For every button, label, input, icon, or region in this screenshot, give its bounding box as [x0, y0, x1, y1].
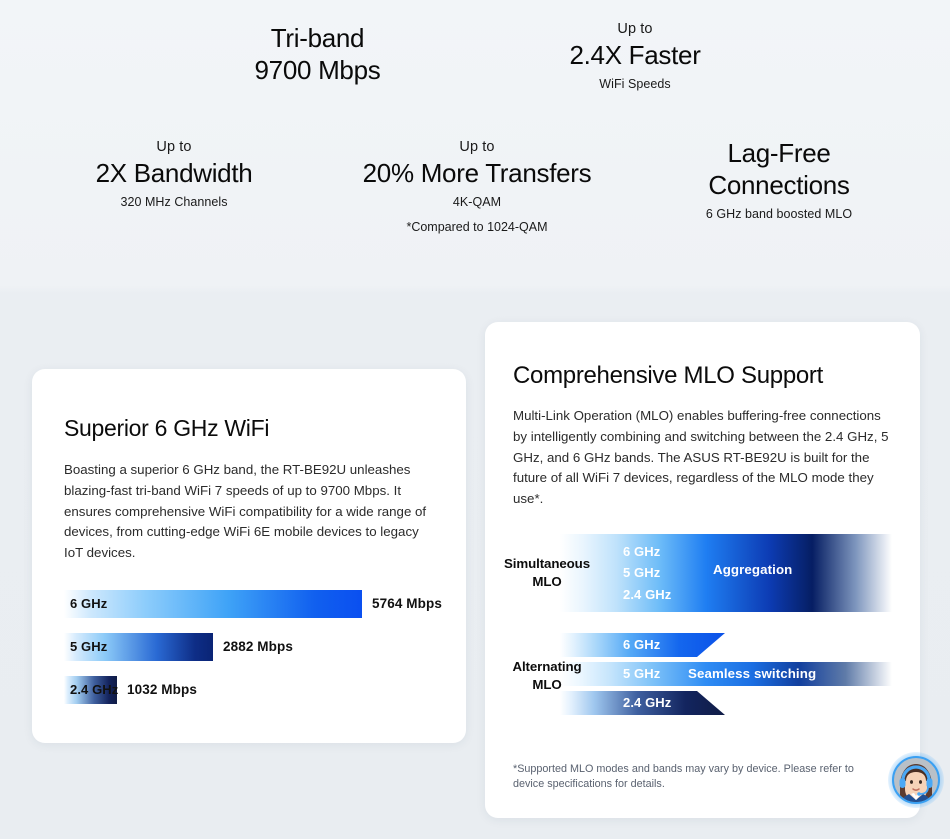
mlo-simultaneous-label-line1: Simultaneous: [497, 555, 597, 573]
mlo-alternating-mode: Seamless switching: [688, 662, 816, 686]
spec-triband: Tri-band 9700 Mbps: [190, 22, 445, 86]
mlo-alt-row-24ghz: 2.4 GHz: [560, 691, 725, 715]
bar-value-5ghz: 2882 Mbps: [223, 633, 293, 661]
band-speed-bar-chart: 6 GHz 5764 Mbps 5 GHz 2882 Mbps 2.4 GHz …: [64, 590, 434, 704]
left-card-body: Boasting a superior 6 GHz band, the RT-B…: [64, 460, 434, 564]
right-card-body: Multi-Link Operation (MLO) enables buffe…: [513, 406, 892, 510]
spec-transfers: Up to 20% More Transfers 4K-QAM *Compare…: [336, 138, 618, 236]
right-card-title: Comprehensive MLO Support: [513, 361, 892, 391]
left-card-title: Superior 6 GHz WiFi: [64, 413, 434, 443]
mlo-alternating-label-line1: Alternating: [497, 658, 597, 676]
mlo-footnote: *Supported MLO modes and bands may vary …: [513, 762, 878, 791]
spec-triband-headline-2: 9700 Mbps: [190, 54, 445, 86]
mlo-alternating-label: Alternating MLO: [497, 658, 597, 694]
mlo-sim-band-5ghz: 5 GHz: [623, 562, 671, 583]
bar-row-6ghz: 6 GHz 5764 Mbps: [64, 590, 434, 618]
support-chat-button[interactable]: [888, 752, 944, 808]
bar-fill-6ghz: [64, 590, 362, 618]
spec-transfers-prefix: Up to: [336, 138, 618, 157]
mlo-group-simultaneous: Simultaneous MLO 6 GHz 5 GHz 2.4 GHz Agg…: [485, 534, 892, 612]
spec-bandwidth-headline: 2X Bandwidth: [60, 157, 288, 189]
spec-faster-prefix: Up to: [545, 20, 725, 39]
mlo-diagram: Simultaneous MLO 6 GHz 5 GHz 2.4 GHz Agg…: [485, 534, 864, 729]
bar-value-6ghz: 5764 Mbps: [372, 590, 442, 618]
mlo-simultaneous-bands: 6 GHz 5 GHz 2.4 GHz: [623, 541, 671, 605]
spec-faster-sub: WiFi Speeds: [545, 75, 725, 93]
spec-faster: Up to 2.4X Faster WiFi Speeds: [545, 20, 725, 93]
spec-triband-headline-1: Tri-band: [190, 22, 445, 54]
spec-lagfree-sub: 6 GHz band boosted MLO: [678, 205, 880, 223]
hero-spec-grid: Tri-band 9700 Mbps Up to 2.4X Faster WiF…: [0, 0, 950, 292]
spec-bandwidth: Up to 2X Bandwidth 320 MHz Channels: [60, 138, 288, 211]
mlo-sim-band-24ghz: 2.4 GHz: [623, 584, 671, 605]
mlo-alt-band-6ghz: 6 GHz: [623, 633, 660, 657]
mlo-simultaneous-label: Simultaneous MLO: [497, 555, 597, 591]
mlo-simultaneous-mode: Aggregation: [713, 562, 792, 577]
spec-faster-headline: 2.4X Faster: [545, 39, 725, 71]
bar-value-24ghz: 1032 Mbps: [127, 676, 197, 704]
bar-label-5ghz: 5 GHz: [70, 633, 107, 661]
mlo-alt-band-24ghz: 2.4 GHz: [623, 691, 671, 715]
mlo-simultaneous-label-line2: MLO: [497, 573, 597, 591]
bar-row-24ghz: 2.4 GHz 1032 Mbps: [64, 676, 434, 704]
mlo-alternating-label-line2: MLO: [497, 676, 597, 694]
mlo-alt-band-5ghz: 5 GHz: [623, 662, 660, 686]
spec-lagfree-headline-1: Lag-Free: [678, 137, 880, 169]
spec-transfers-sub: 4K-QAM: [336, 193, 618, 211]
spec-lagfree-headline-2: Connections: [678, 169, 880, 201]
spec-transfers-headline: 20% More Transfers: [336, 157, 618, 189]
spec-bandwidth-prefix: Up to: [60, 138, 288, 157]
spec-transfers-note: *Compared to 1024-QAM: [336, 218, 618, 236]
superior-6ghz-wifi-card: Superior 6 GHz WiFi Boasting a superior …: [32, 369, 466, 743]
bar-label-6ghz: 6 GHz: [70, 590, 107, 618]
mlo-alt-row-6ghz: 6 GHz: [560, 633, 725, 657]
bar-label-24ghz: 2.4 GHz: [70, 676, 118, 704]
comprehensive-mlo-support-card: Comprehensive MLO Support Multi-Link Ope…: [485, 322, 920, 818]
support-agent-avatar-icon: [892, 756, 940, 804]
bar-row-5ghz: 5 GHz 2882 Mbps: [64, 633, 434, 661]
mlo-sim-band-6ghz: 6 GHz: [623, 541, 671, 562]
spec-lagfree: Lag-Free Connections 6 GHz band boosted …: [678, 137, 880, 223]
mlo-group-alternating: 6 GHz 5 GHz 2.4 GHz Seamless switching A…: [485, 633, 892, 715]
spec-bandwidth-sub: 320 MHz Channels: [60, 193, 288, 211]
